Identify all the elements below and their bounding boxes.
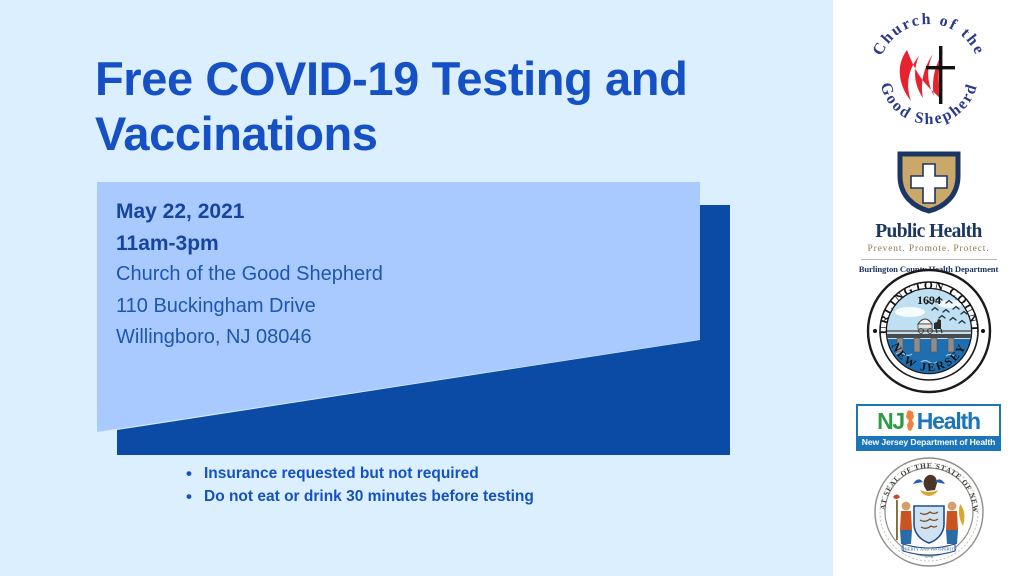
svg-text:1776: 1776 xyxy=(924,554,932,559)
nj-health-nj: NJ xyxy=(877,410,904,433)
nj-health-logo: NJ Health New Jersey Department of Healt… xyxy=(833,404,1024,452)
event-time: 11am-3pm xyxy=(116,228,636,260)
event-details-text: May 22, 2021 11am-3pm Church of the Good… xyxy=(116,196,636,354)
new-jersey-state-icon xyxy=(905,409,916,433)
logo-rail: Church of the Good Shepherd xyxy=(833,0,1024,576)
list-item: Insurance requested but not required xyxy=(182,463,782,486)
divider xyxy=(861,259,997,260)
public-health-tagline: Prevent. Promote. Protect. xyxy=(833,244,1024,254)
burlington-county-seal: BURLINGTON COUNTY NEW JERSEY 1694 xyxy=(833,268,1024,396)
event-date: May 22, 2021 xyxy=(116,196,636,228)
list-item: Do not eat or drink 30 minutes before te… xyxy=(182,486,782,509)
svg-text:1694: 1694 xyxy=(917,293,941,307)
nj-health-department: New Jersey Department of Health xyxy=(858,436,999,449)
flyer-content-area: Free COVID-19 Testing and Vaccinations M… xyxy=(0,0,833,576)
shield-icon xyxy=(896,150,962,214)
page-title: Free COVID-19 Testing and Vaccinations xyxy=(95,52,735,161)
public-health-title: Public Health xyxy=(833,222,1024,242)
event-venue: Church of the Good Shepherd xyxy=(116,259,636,291)
svg-text:LIBERTY AND PROSPERITY: LIBERTY AND PROSPERITY xyxy=(900,547,957,552)
burlington-county-public-health-logo: Public Health Prevent. Promote. Protect.… xyxy=(833,150,1024,262)
nj-health-health: Health xyxy=(917,410,980,433)
svg-text:Church of the: Church of the xyxy=(869,11,988,58)
event-street: 110 Buckingham Drive xyxy=(116,291,636,323)
event-city-state-zip: Willingboro, NJ 08046 xyxy=(116,322,636,354)
svg-text:Good Shepherd: Good Shepherd xyxy=(876,80,981,128)
flyer-canvas: Free COVID-19 Testing and Vaccinations M… xyxy=(0,0,1024,576)
church-of-the-good-shepherd-logo: Church of the Good Shepherd xyxy=(833,6,1024,146)
notes-list: Insurance requested but not required Do … xyxy=(182,463,782,509)
great-seal-of-new-jersey: LIBERTY AND PROSPERITY 1776 THE GREAT SE… xyxy=(833,456,1024,574)
